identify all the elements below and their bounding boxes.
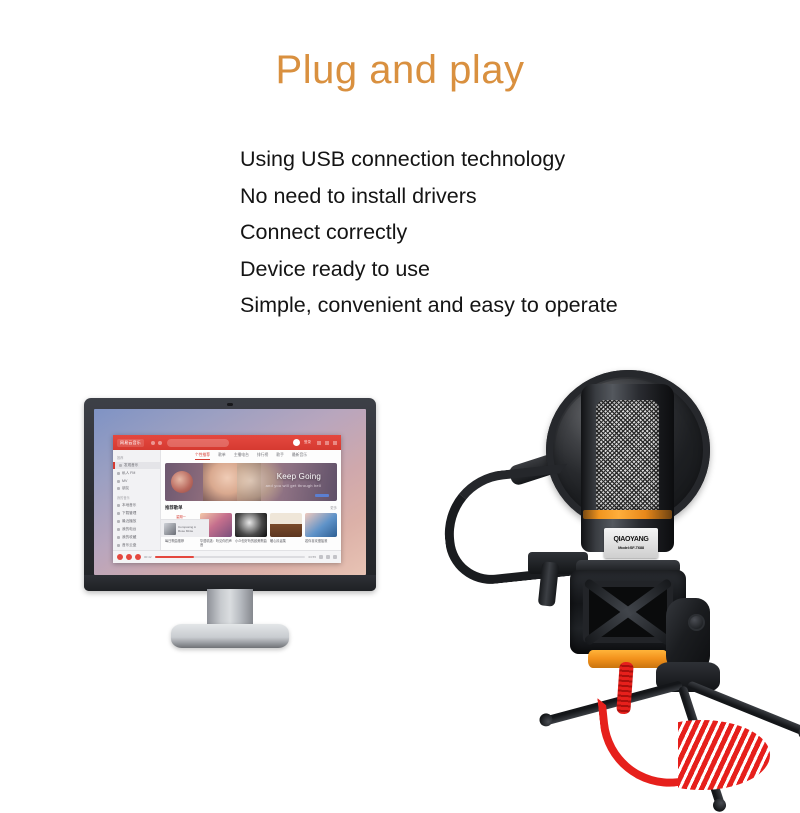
orange-accent-ring xyxy=(583,510,672,519)
card-caption: 暖心民谣集 xyxy=(270,539,302,543)
nav-arrows-icon[interactable] xyxy=(151,441,162,445)
tab-radio[interactable]: 主播电台 xyxy=(234,453,249,460)
player-bar: 00:42 03:55 xyxy=(113,550,341,563)
sidebar-item-label: 本地音乐 xyxy=(122,503,136,508)
tab-playlists[interactable]: 歌单 xyxy=(218,453,226,460)
sidebar-group-mine: 我的音乐 xyxy=(117,495,160,500)
model-number: Model:SF-T688 xyxy=(618,545,644,550)
tab-charts[interactable]: 排行榜 xyxy=(257,453,268,460)
now-playing-meta: Composing A Rose Minte xyxy=(178,525,196,533)
playlist-card[interactable]: 若你喜欢慢摇滚 xyxy=(305,513,337,547)
feature-item-5: Simple, convenient and easy to operate xyxy=(240,287,710,324)
video-icon xyxy=(117,480,120,483)
sidebar-item-downloads[interactable]: 下载管理 xyxy=(117,510,160,517)
feature-item-2: No need to install drivers xyxy=(240,178,710,215)
sidebar-item-label: 我的电台 xyxy=(122,527,136,532)
sidebar-item-fm[interactable]: 私人 FM xyxy=(117,470,160,477)
gooseneck-mount-tip xyxy=(538,561,560,607)
sidebar-item-recent[interactable]: 最近播放 xyxy=(117,518,160,525)
heart-icon xyxy=(117,536,120,539)
note-icon xyxy=(119,464,122,467)
monitor-screen: 网易云音乐 登录 推荐 发现音乐 xyxy=(94,409,366,575)
monitor-stand-neck xyxy=(207,589,253,627)
sidebar-item-label: MV xyxy=(122,479,127,483)
user-name-label: 登录 xyxy=(304,440,311,445)
avatar xyxy=(293,439,300,446)
sidebar-item-mv[interactable]: MV xyxy=(117,478,160,484)
tab-artists[interactable]: 歌手 xyxy=(276,453,284,460)
section-header: 推荐歌单 更多 xyxy=(165,505,337,511)
window-controls[interactable] xyxy=(317,441,337,445)
card-caption: 每日歌曲推荐 xyxy=(165,539,197,543)
feature-list: Using USB connection technology No need … xyxy=(240,141,710,324)
card-caption: 小众但好听的欧美歌曲 xyxy=(235,539,267,543)
previous-button[interactable] xyxy=(117,554,123,560)
now-playing-panel: Composing A Rose Minte xyxy=(161,519,209,537)
sidebar-item-discover[interactable]: 发现音乐 xyxy=(113,462,160,469)
elapsed-time: 00:42 xyxy=(144,555,152,559)
microphone-grille xyxy=(596,400,659,510)
sidebar-item-myradio[interactable]: 我的电台 xyxy=(117,526,160,533)
banner-swirl xyxy=(237,463,283,501)
feature-item-1: Using USB connection technology xyxy=(240,141,710,178)
tighten-knob xyxy=(688,614,705,631)
album-art xyxy=(305,513,337,537)
friends-icon xyxy=(117,487,120,490)
desktop-monitor-image: 网易云音乐 登录 推荐 发现音乐 xyxy=(84,398,376,650)
sidebar-item-clouddisk[interactable]: 音乐云盘 xyxy=(117,542,160,549)
sidebar-item-friends[interactable]: 朋友 xyxy=(117,485,160,492)
lyrics-icon[interactable] xyxy=(333,555,337,559)
section-title: 推荐歌单 xyxy=(165,505,183,511)
banner-title: Keep Going xyxy=(277,472,321,481)
sidebar-item-label: 朋友 xyxy=(122,486,129,491)
banner-subtitle: and you will get through hell xyxy=(266,483,321,488)
volume-icon[interactable] xyxy=(319,555,323,559)
album-art xyxy=(235,513,267,537)
total-time: 03:55 xyxy=(308,555,316,559)
monitor-bezel: 网易云音乐 登录 推荐 发现音乐 xyxy=(84,398,376,591)
sidebar-item-label: 音乐云盘 xyxy=(122,543,136,548)
search-input[interactable] xyxy=(167,439,229,447)
content-tabs: 个性推荐 歌单 主播电台 排行榜 歌手 最新音乐 xyxy=(165,453,337,460)
next-button[interactable] xyxy=(135,554,141,560)
album-art xyxy=(270,513,302,537)
download-icon xyxy=(117,512,120,515)
webcam-icon xyxy=(227,403,233,406)
cloud-icon xyxy=(117,544,120,547)
radio-icon xyxy=(117,472,120,475)
user-account[interactable]: 登录 xyxy=(293,439,311,446)
now-playing-art xyxy=(164,523,176,535)
feature-item-4: Device ready to use xyxy=(240,251,710,288)
monitor-stand-base xyxy=(171,624,289,648)
tripod-swivel-joint xyxy=(666,598,710,672)
folder-icon xyxy=(117,504,120,507)
app-body: 推荐 发现音乐 私人 FM MV xyxy=(113,450,341,550)
progress-slider[interactable] xyxy=(155,556,306,558)
tab-newest[interactable]: 最新音乐 xyxy=(292,453,307,460)
brand-label: QIAOYANG Model:SF-T688 xyxy=(604,528,658,558)
clock-icon xyxy=(117,520,120,523)
playlist-card[interactable]: 小众但好听的欧美歌曲 xyxy=(235,513,267,547)
playlist-icon[interactable] xyxy=(326,555,330,559)
card-caption: 华语精选：听见你的声音 xyxy=(200,539,232,548)
tab-personal-recommend[interactable]: 个性推荐 xyxy=(195,453,210,460)
app-sidebar: 推荐 发现音乐 私人 FM MV xyxy=(113,450,161,550)
sidebar-item-label: 下载管理 xyxy=(122,511,136,516)
sidebar-item-favorites[interactable]: 我的收藏 xyxy=(117,534,160,541)
app-main-content: 个性推荐 歌单 主播电台 排行榜 歌手 最新音乐 Keep Going xyxy=(161,450,341,550)
playlist-card[interactable]: 暖心民谣集 xyxy=(270,513,302,547)
sidebar-item-label: 发现音乐 xyxy=(124,463,138,468)
music-player-window: 网易云音乐 登录 推荐 发现音乐 xyxy=(113,435,341,563)
sidebar-item-local[interactable]: 本地音乐 xyxy=(117,502,160,509)
sidebar-group-recommend: 推荐 xyxy=(117,455,160,460)
app-logo: 网易云音乐 xyxy=(117,439,144,447)
app-title-bar: 网易云音乐 登录 xyxy=(113,435,341,450)
banner-disc xyxy=(171,471,193,493)
brand-name: QIAOYANG xyxy=(613,536,648,543)
card-caption: 若你喜欢慢摇滚 xyxy=(305,539,337,543)
banner-pagination[interactable] xyxy=(315,494,329,497)
microphone-product-image: QIAOYANG Model:SF-T688 xyxy=(430,362,800,800)
sidebar-item-label: 最近播放 xyxy=(122,519,136,524)
hero-banner[interactable]: Keep Going and you will get through hell xyxy=(165,463,337,501)
section-more-link[interactable]: 更多 xyxy=(330,505,337,510)
feature-item-3: Connect correctly xyxy=(240,214,710,251)
sidebar-item-label: 我的收藏 xyxy=(122,535,136,540)
play-pause-button[interactable] xyxy=(126,554,132,560)
coiled-usb-cable xyxy=(678,720,796,790)
page-title: Plug and play xyxy=(0,48,800,93)
mic-icon xyxy=(117,528,120,531)
sidebar-item-label: 私人 FM xyxy=(122,471,135,476)
now-playing-artist: Rose Minte xyxy=(178,529,193,533)
